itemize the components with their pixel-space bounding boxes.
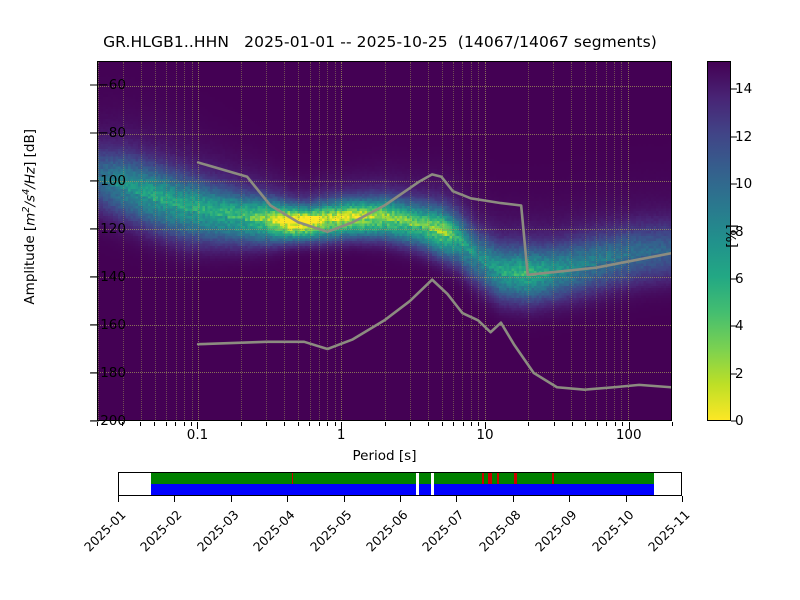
x-axis-minor-tick-mark [615,422,616,426]
timeline-tick-mark [626,496,627,502]
y-axis-tick-label: −80 [98,125,127,141]
colorbar-tick-mark [731,136,737,137]
x-axis-minor-tick-mark [622,422,623,426]
timeline-tick-mark [682,496,683,502]
page-title: GR.HLGB1..HHN 2025-01-01 -- 2025-10-25 (… [0,33,760,51]
ppsd-plot-area[interactable] [97,61,672,421]
x-axis-minor-tick-mark [672,422,673,426]
timeline-gap [416,473,419,495]
x-axis-minor-tick-mark [140,422,141,426]
timeline-date-label: 2025-03 [193,507,242,556]
x-axis-minor-tick-mark [554,422,555,426]
x-axis-minor-tick-mark [385,422,386,426]
data-coverage-timeline[interactable] [118,472,682,496]
x-axis-tick-label: 100 [616,427,642,443]
x-axis-minor-tick-mark [528,422,529,426]
y-axis-tick-label: −60 [98,77,127,93]
timeline-tick-mark [400,496,401,502]
timeline-tick-mark [344,496,345,502]
timeline-marker [514,473,517,484]
x-axis-minor-tick-mark [191,422,192,426]
x-axis-minor-tick-mark [442,422,443,426]
timeline-tick-mark [287,496,288,502]
y-axis-tick-mark [90,373,97,374]
x-axis-minor-tick-mark [453,422,454,426]
y-axis-label-units: ] [dB] [22,129,38,167]
timeline-date-label: 2025-01 [80,507,129,556]
x-axis-minor-tick-mark [606,422,607,426]
timeline-tick-mark [231,496,232,502]
y-axis-label-text: Amplitude [ [22,226,38,305]
timeline-marker [497,473,499,484]
x-axis-minor-tick-mark [478,422,479,426]
x-axis-minor-tick-mark [428,422,429,426]
timeline-date-label: 2025-11 [644,507,693,556]
x-axis-minor-tick-mark [166,422,167,426]
y-axis-tick-mark [90,421,97,422]
x-axis-minor-tick-mark [298,422,299,426]
x-axis-minor-tick-mark [309,422,310,426]
x-axis-tick-label: 0.1 [187,427,208,443]
ppsd-figure: GR.HLGB1..HHN 2025-01-01 -- 2025-10-25 (… [0,0,800,600]
y-axis-tick-mark [90,181,97,182]
timeline-band-data [151,484,654,495]
y-axis-label: Amplitude [m2/s4/Hz] [dB] [20,17,38,417]
timeline-marker [292,473,294,484]
y-axis-tick-mark [90,325,97,326]
colorbar-tick-mark [731,326,737,327]
y-axis-tick-mark [90,277,97,278]
timeline-date-label: 2025-09 [531,507,580,556]
y-axis-tick-mark [90,85,97,86]
x-axis-minor-tick-mark [410,422,411,426]
timeline-tick-mark [118,496,119,502]
x-axis-minor-tick-mark [572,422,573,426]
timeline-date-label: 2025-08 [475,507,524,556]
colorbar-tick-label: 14 [735,81,752,97]
timeline-date-label: 2025-02 [136,507,185,556]
timeline-date-label: 2025-05 [305,507,354,556]
timeline-date-label: 2025-07 [418,507,467,556]
x-axis-minor-tick-mark [184,422,185,426]
timeline-tick-mark [569,496,570,502]
timeline-band-psd [151,473,654,484]
x-axis-label: Period [s] [97,448,672,464]
timeline-marker [488,473,492,484]
y-axis-label-math: m2/s4/Hz [22,167,38,226]
timeline-tick-mark [174,496,175,502]
x-axis-minor-tick-mark [154,422,155,426]
gridline-v-minor [671,62,672,420]
x-axis-minor-tick-mark [585,422,586,426]
x-axis-tick-label: 10 [476,427,493,443]
x-axis-minor-tick-mark [97,422,98,426]
x-axis-minor-tick-mark [122,422,123,426]
colorbar-tick-mark [731,421,737,422]
timeline-tick-mark [513,496,514,502]
x-axis-minor-tick-mark [266,422,267,426]
colorbar-tick-mark [731,373,737,374]
x-axis-minor-tick-mark [463,422,464,426]
x-axis-minor-tick-mark [597,422,598,426]
timeline-marker [552,473,554,484]
x-axis-minor-tick-mark [327,422,328,426]
ppsd-heatmap [98,62,671,420]
x-axis-minor-tick-mark [319,422,320,426]
timeline-date-label: 2025-04 [249,507,298,556]
x-axis-minor-tick-mark [284,422,285,426]
timeline-date-label: 2025-06 [362,507,411,556]
timeline-marker [482,473,484,484]
colorbar-tick-label: 12 [735,129,752,145]
x-axis-minor-tick-mark [241,422,242,426]
colorbar-label: [%] [724,176,740,296]
gridline-h [98,420,671,421]
y-axis-tick-mark [90,133,97,134]
x-axis-minor-tick-mark [335,422,336,426]
colorbar-tick-mark [731,89,737,90]
timeline-gap [431,473,434,495]
y-axis-tick-mark [90,229,97,230]
x-axis-tick-label: 1 [337,427,346,443]
x-axis-minor-tick-mark [471,422,472,426]
timeline-tick-mark [456,496,457,502]
timeline-date-label: 2025-10 [587,507,636,556]
x-axis-minor-tick-mark [175,422,176,426]
